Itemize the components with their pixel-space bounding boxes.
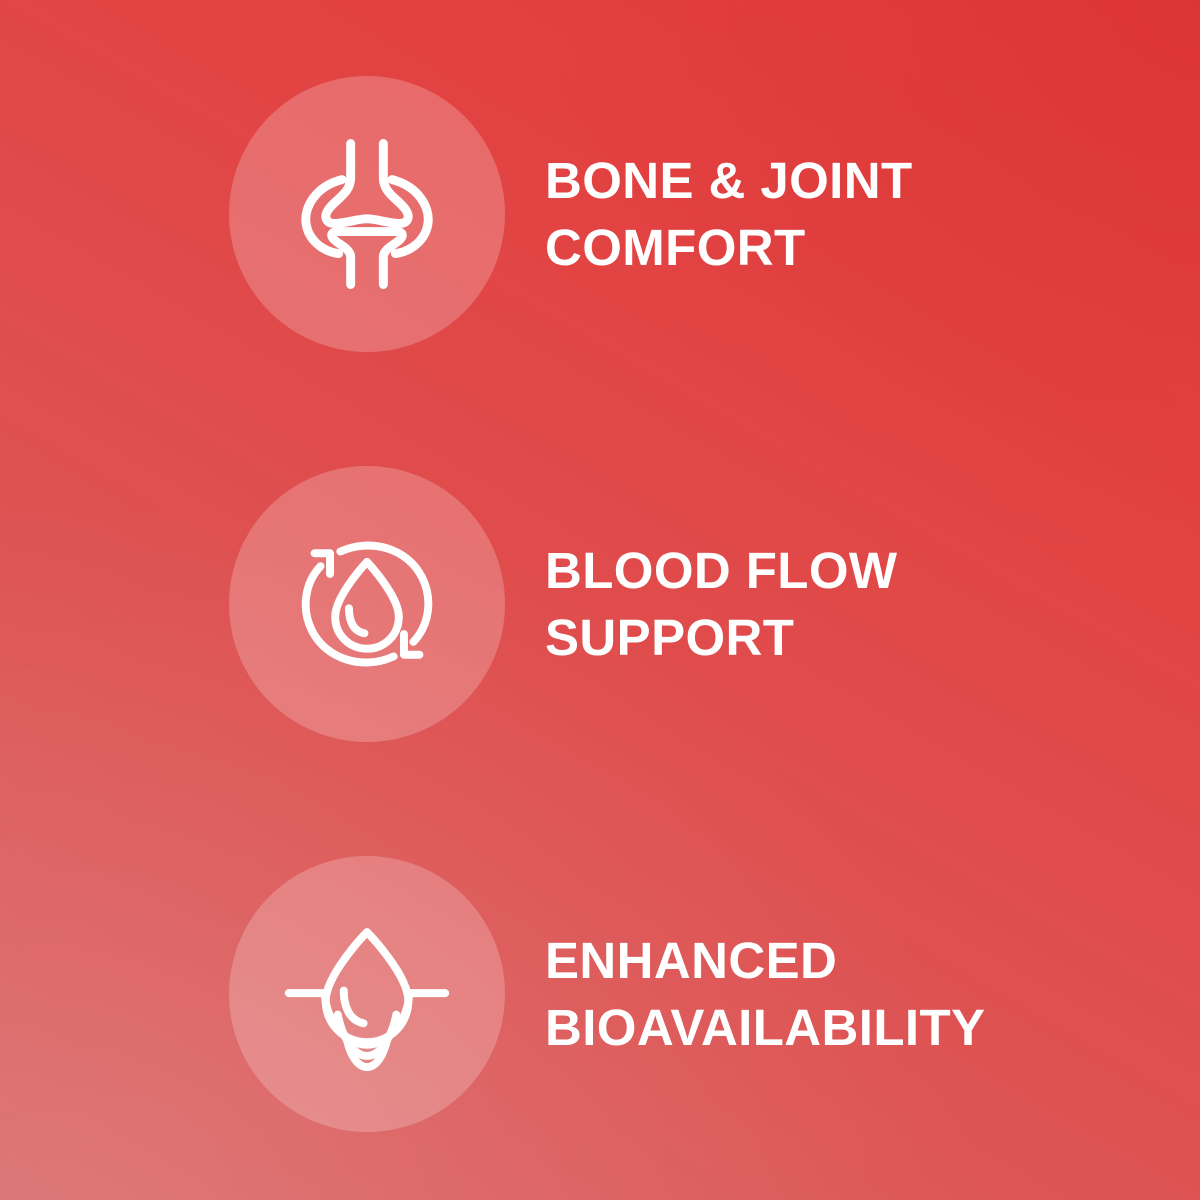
benefits-list: Bone & Joint Comfort	[0, 0, 1200, 1200]
droplet-absorption-icon	[281, 908, 453, 1080]
benefit-label-bioavailability: Enhanced Bioavailability	[545, 927, 985, 1061]
icon-badge-bioavailability	[229, 856, 505, 1132]
benefit-row: Enhanced Bioavailability	[0, 856, 1200, 1132]
icon-badge-bone-joint	[229, 76, 505, 352]
benefits-poster: Bone & Joint Comfort	[0, 0, 1200, 1200]
benefit-label-bone-joint: Bone & Joint Comfort	[545, 147, 913, 281]
icon-badge-blood-flow	[229, 466, 505, 742]
benefit-row: Bone & Joint Comfort	[0, 76, 1200, 352]
benefit-label-blood-flow: Blood Flow Support	[545, 537, 897, 671]
benefit-row: Blood Flow Support	[0, 466, 1200, 742]
bone-joint-icon	[281, 128, 453, 300]
blood-flow-circulation-icon	[281, 518, 453, 690]
